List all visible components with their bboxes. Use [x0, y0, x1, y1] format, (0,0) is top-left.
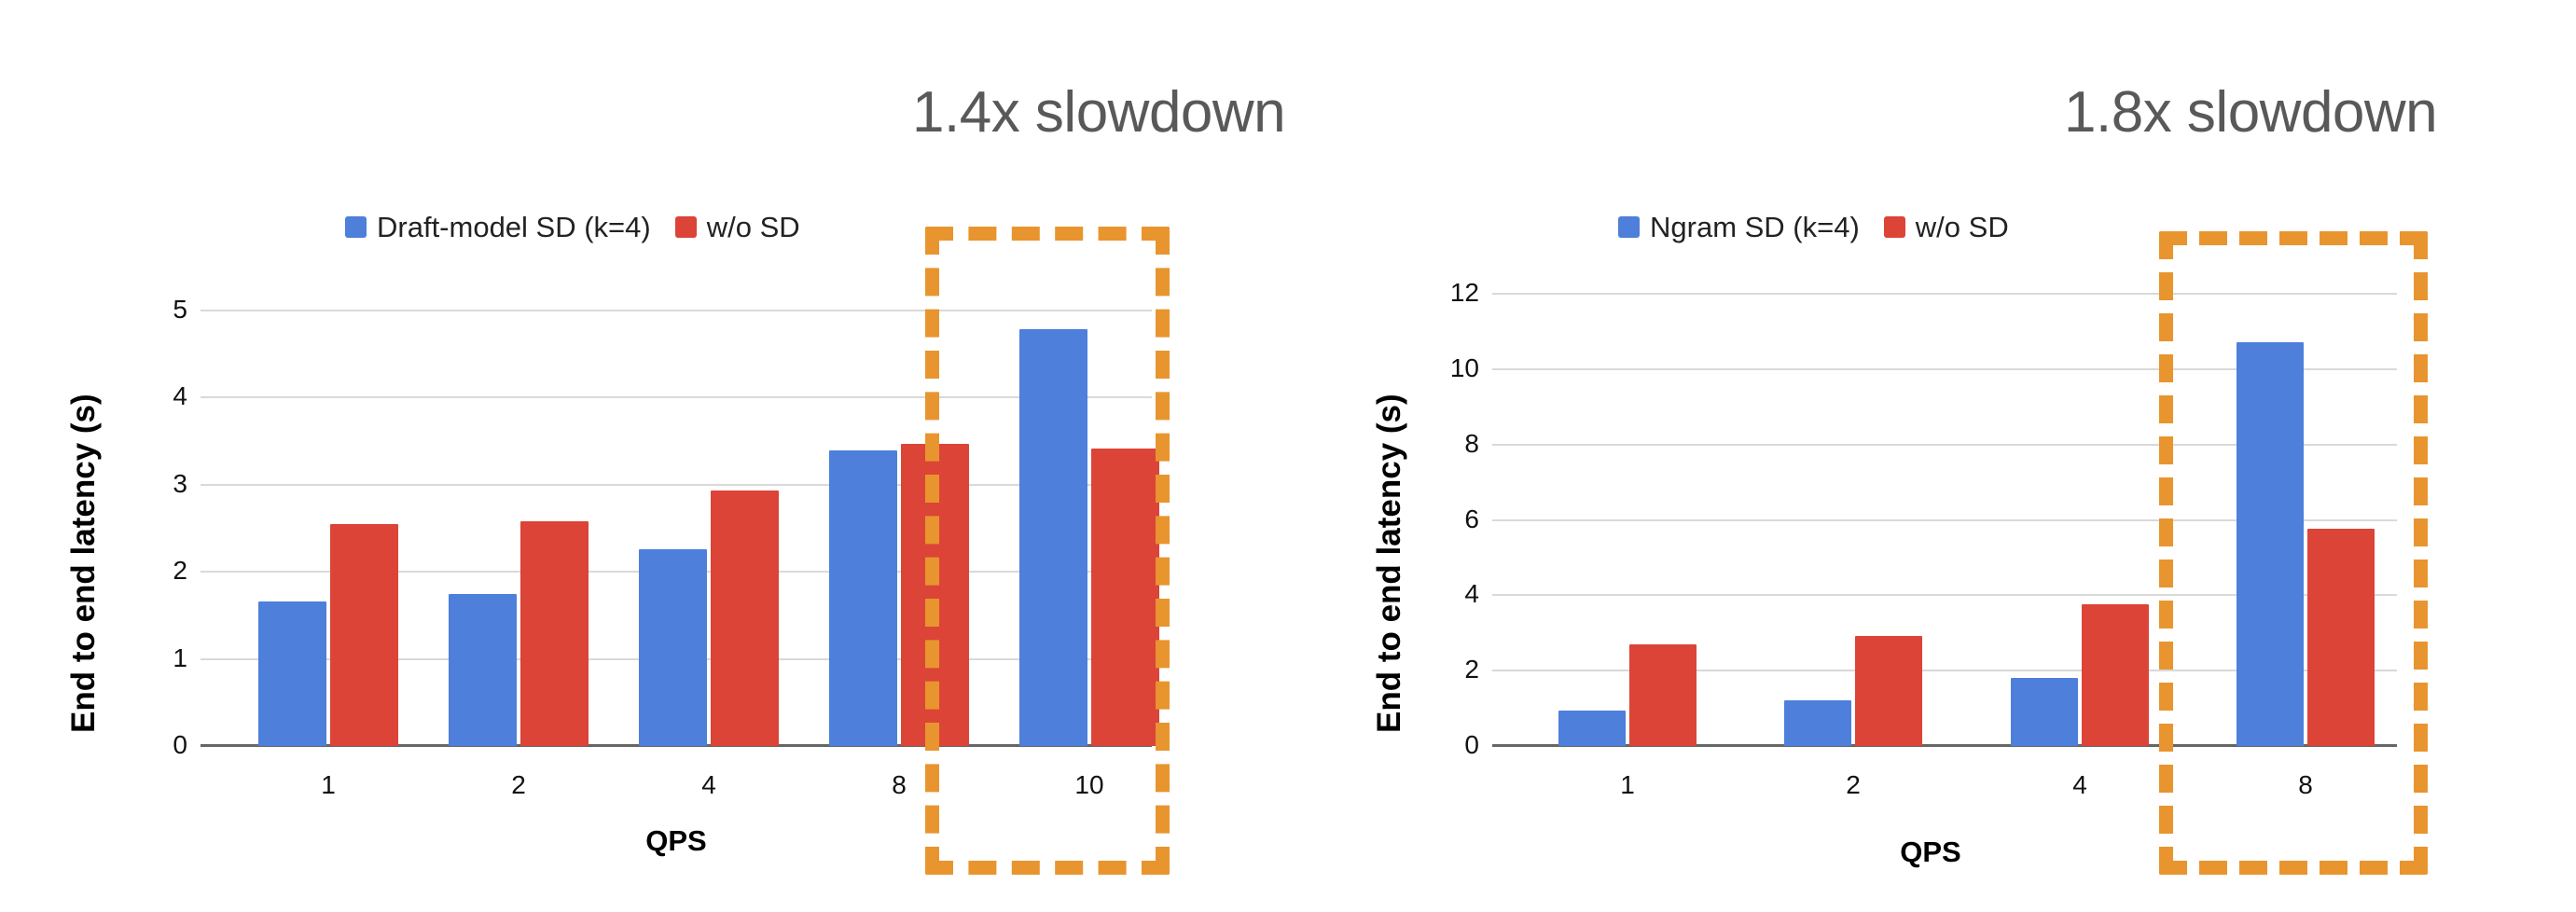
bar-sd-qps-2[interactable] — [449, 594, 517, 746]
legend-swatch-icon-sd — [345, 216, 367, 238]
y-axis-title-right: End to end latency (s) — [1371, 394, 1408, 733]
chart-panel-right: End to end latency (s) Ngram SD (k=4) w/… — [1306, 0, 2576, 912]
plot-area-right: 12 10 8 6 4 2 0 1 2 4 8 — [1492, 269, 2397, 746]
x-tick-label: 8 — [2231, 772, 2380, 798]
x-axis-title-left: QPS — [602, 824, 751, 858]
y-tick-label: 4 — [1427, 581, 1479, 607]
x-tick-label: 1 — [254, 772, 403, 798]
y-tick-label: 12 — [1427, 280, 1479, 306]
legend-entry-no-sd[interactable]: w/o SD — [675, 213, 800, 242]
gridline-12 — [1492, 293, 2397, 295]
bar-sd-qps-8[interactable] — [2237, 342, 2304, 746]
bar-sd-qps-10[interactable] — [1019, 329, 1087, 746]
x-tick-label: 10 — [1015, 772, 1164, 798]
chart-panel-left: End to end latency (s) Draft-model SD (k… — [0, 0, 1306, 912]
y-tick-label: 2 — [1427, 656, 1479, 683]
bar-nosd-qps-2[interactable] — [1855, 636, 1922, 746]
bar-nosd-qps-8[interactable] — [2307, 529, 2375, 746]
x-tick-label: 1 — [1553, 772, 1702, 798]
y-tick-label: 6 — [1427, 506, 1479, 532]
legend-right: Ngram SD (k=4) w/o SD — [1618, 213, 2009, 242]
x-tick-label: 2 — [444, 772, 593, 798]
bar-sd-qps-8[interactable] — [829, 450, 897, 746]
bar-nosd-qps-1[interactable] — [330, 524, 398, 746]
x-tick-label: 4 — [634, 772, 783, 798]
bar-nosd-qps-4[interactable] — [711, 491, 779, 746]
bar-sd-qps-2[interactable] — [1784, 700, 1851, 746]
y-tick-label: 8 — [1427, 431, 1479, 457]
x-tick-label: 4 — [2005, 772, 2154, 798]
legend-swatch-icon-no-sd — [1884, 216, 1905, 238]
legend-entry-ngram-sd[interactable]: Ngram SD (k=4) — [1618, 213, 1860, 242]
y-tick-label: 4 — [143, 383, 187, 409]
x-tick-label: 2 — [1779, 772, 1928, 798]
gridline-5 — [201, 310, 1152, 311]
y-tick-label: 1 — [143, 645, 187, 671]
y-tick-label: 3 — [143, 471, 187, 497]
x-axis-title-right: QPS — [1856, 836, 2005, 869]
legend-left: Draft-model SD (k=4) w/o SD — [345, 213, 800, 242]
y-tick-label: 10 — [1427, 355, 1479, 381]
bar-nosd-qps-10[interactable] — [1091, 449, 1159, 746]
gridline-4 — [201, 396, 1152, 398]
legend-swatch-icon-ngram-sd — [1618, 216, 1640, 238]
bar-nosd-qps-8[interactable] — [901, 444, 969, 746]
bar-nosd-qps-1[interactable] — [1629, 644, 1697, 746]
y-tick-label: 0 — [143, 732, 187, 758]
legend-entry-no-sd[interactable]: w/o SD — [1884, 213, 2009, 242]
bar-sd-qps-1[interactable] — [1558, 711, 1626, 746]
y-tick-label: 5 — [143, 297, 187, 323]
legend-label-no-sd: w/o SD — [1916, 213, 2009, 242]
plot-area-left: 5 4 3 2 1 0 1 2 4 8 10 — [201, 269, 1152, 746]
bar-sd-qps-1[interactable] — [258, 601, 326, 746]
y-tick-label: 2 — [143, 558, 187, 584]
bar-sd-qps-4[interactable] — [639, 549, 707, 746]
bar-sd-qps-4[interactable] — [2011, 678, 2078, 746]
legend-label-no-sd: w/o SD — [707, 213, 800, 242]
bar-nosd-qps-2[interactable] — [520, 521, 589, 746]
legend-label-ngram-sd: Ngram SD (k=4) — [1650, 213, 1860, 242]
y-axis-title-left: End to end latency (s) — [65, 394, 103, 733]
legend-label-sd: Draft-model SD (k=4) — [377, 213, 651, 242]
legend-swatch-icon-no-sd — [675, 216, 697, 238]
gridline-3 — [201, 484, 1152, 486]
x-tick-label: 8 — [824, 772, 974, 798]
legend-entry-sd[interactable]: Draft-model SD (k=4) — [345, 213, 651, 242]
y-tick-label: 0 — [1427, 732, 1479, 758]
bar-nosd-qps-4[interactable] — [2082, 604, 2149, 746]
